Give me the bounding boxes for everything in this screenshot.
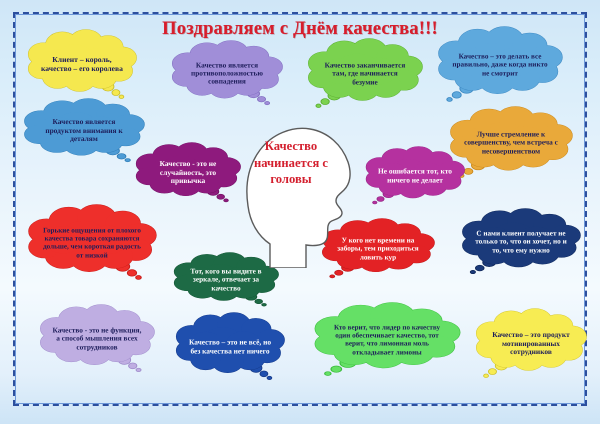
cloud-text-mirror-responsible: Тот, кого вы видите в зеркале, отвечает … (184, 267, 268, 292)
thought-cloud-motivated-employees: Качество – это продукт мотивированных со… (474, 308, 588, 380)
cloud-text-motivated-employees: Качество – это продукт мотивированных со… (487, 331, 576, 357)
cloud-text-no-mistakes-who-does-nothing: Не ошибается тот, кто ничего не делает (375, 167, 455, 184)
cloud-text-way-of-thinking: Качество - это не функция, а способ мышл… (51, 326, 143, 351)
thought-cloud-striving-for-perfection: Лучше стремление к совершенству, чем вст… (448, 106, 574, 180)
thought-cloud-not-accident-habit: Качество - это не случайность, это привы… (134, 142, 242, 204)
cloud-text-opposite-of-coincidence: Качество является противоположностью сов… (183, 61, 272, 86)
cloud-text-product-of-attention: Качество является продуктом внимания к д… (36, 118, 133, 144)
thought-cloud-bitter-feelings: Горькие ощущения от плохого качества тов… (26, 204, 158, 282)
thought-cloud-client-gets-what-needs: С нами клиент получает не только то, что… (460, 208, 582, 276)
head-silhouette-icon (232, 112, 354, 268)
cloud-text-lemon-moth: Кто верит, что лидер по качеству один об… (329, 324, 446, 357)
cloud-text-bitter-feelings: Горькие ощущения от плохого качества тов… (41, 227, 144, 260)
thought-cloud-lemon-moth: Кто верит, что лидер по качеству один об… (312, 302, 462, 378)
cloud-text-ends-where-madness-begins: Качество заканчивается там, где начинает… (319, 61, 411, 86)
thought-cloud-opposite-of-coincidence: Качество является противоположностью сов… (170, 40, 284, 107)
thought-cloud-product-of-attention: Качество является продуктом внимания к д… (22, 98, 146, 164)
cloud-text-not-accident-habit: Качество - это не случайность, это привы… (146, 160, 230, 186)
cloud-text-client-gets-what-needs: С нами клиент получает не только то, что… (473, 229, 568, 254)
thought-cloud-way-of-thinking: Качество - это не функция, а способ мышл… (38, 304, 156, 374)
thought-cloud-no-mistakes-who-does-nothing: Не ошибается тот, кто ничего не делает (364, 146, 466, 206)
cloud-text-do-right-when-nobody-watches: Качество – это делать все правильно, даж… (450, 52, 550, 77)
quality-day-poster: Поздравляем с Днём качества!!! Клиент – … (0, 0, 600, 424)
thought-cloud-ends-where-madness-begins: Качество заканчивается там, где начинает… (306, 38, 424, 110)
center-slogan: Качество начинается с головы (239, 138, 343, 188)
page-title: Поздравляем с Днём качества!!! (0, 19, 600, 40)
cloud-text-not-everything-but: Качество – это не всё, но без качества н… (186, 338, 273, 355)
thought-cloud-not-everything-but: Качество – это не всё, но без качества н… (174, 312, 286, 382)
cloud-text-striving-for-perfection: Лучше стремление к совершенству, чем вст… (462, 130, 560, 155)
cloud-text-client-king: Клиент – король, качество – его королева (38, 56, 125, 74)
